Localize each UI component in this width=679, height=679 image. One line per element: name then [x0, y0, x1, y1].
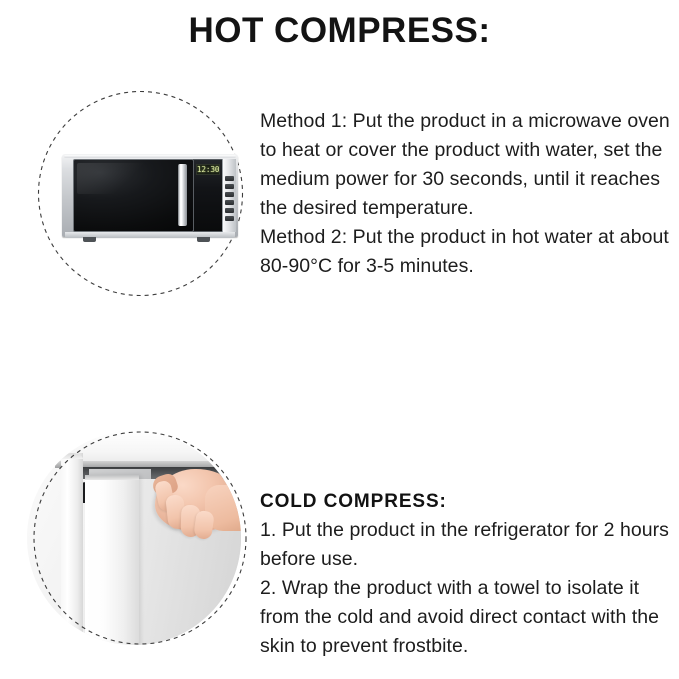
- microwave-foot: [83, 237, 96, 242]
- cold-compress-instructions: 1. Put the product in the refrigerator f…: [260, 519, 669, 657]
- microwave-button-strip: [222, 159, 236, 232]
- page-title: HOT COMPRESS:: [0, 9, 679, 53]
- microwave-led-value: 12:30: [197, 166, 220, 174]
- hot-compress-instructions: Method 1: Put the product in a microwave…: [260, 107, 672, 281]
- cold-compress-heading: COLD COMPRESS:: [260, 487, 672, 516]
- microwave-door-glass: [73, 159, 194, 232]
- microwave-button: [225, 192, 234, 197]
- microwave-foot: [197, 237, 210, 242]
- microwave-button: [225, 208, 234, 213]
- cold-compress-block: COLD COMPRESS:1. Put the product in the …: [260, 458, 672, 661]
- microwave-button: [225, 176, 234, 181]
- microwave-button: [225, 216, 234, 221]
- microwave-button: [225, 184, 234, 189]
- cold-compress-image-frame: [33, 431, 247, 645]
- dashed-circle-outline: [33, 431, 247, 645]
- microwave-led-display: 12:30: [196, 164, 220, 175]
- microwave-button: [225, 200, 234, 205]
- instruction-page: HOT COMPRESS: 12:30 Method 1: Put the pr…: [0, 0, 679, 679]
- microwave-oven-image: 12:30: [62, 154, 238, 246]
- microwave-handle: [178, 164, 187, 226]
- microwave-top-lip: [64, 155, 236, 158]
